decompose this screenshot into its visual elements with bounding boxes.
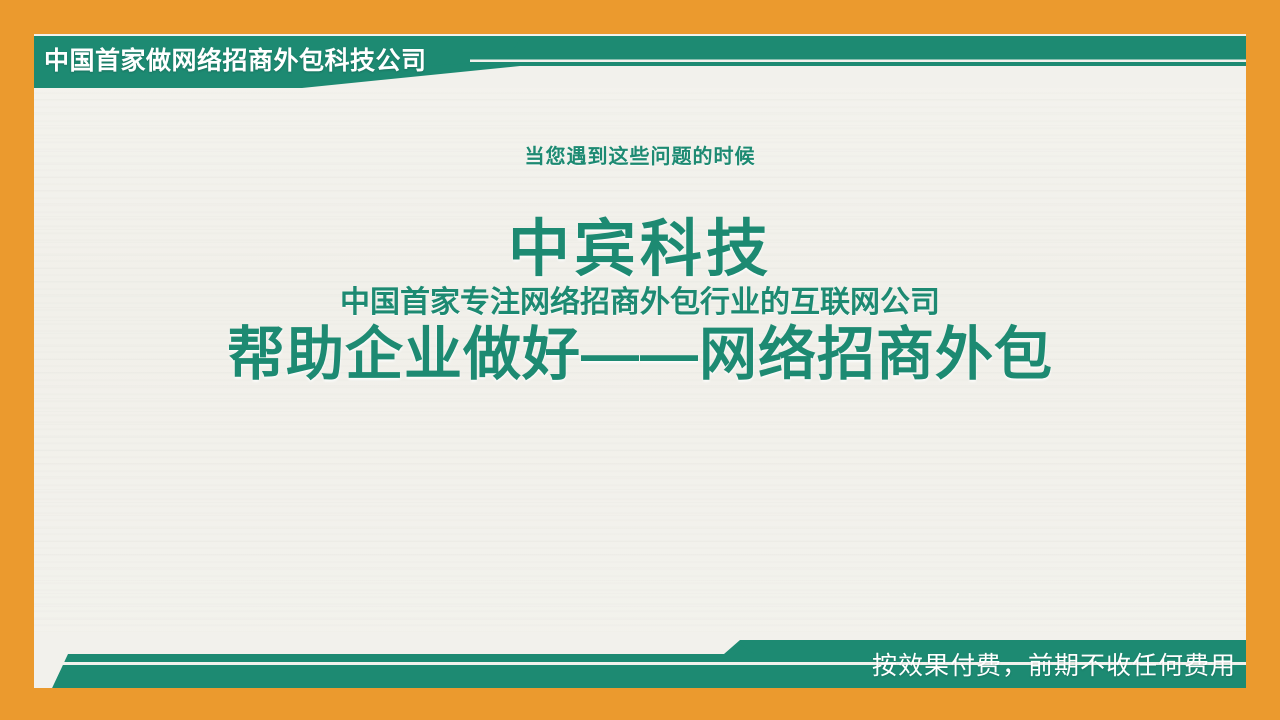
headline-text: 帮助企业做好——网络招商外包 [34,323,1246,387]
eyebrow-text: 当您遇到这些问题的时候 [34,140,1246,169]
tagline-text: 中国首家专注网络招商外包行业的互联网公司 [34,286,1246,321]
slide-content: 当您遇到这些问题的时候 中宾科技 中国首家专注网络招商外包行业的互联网公司 帮助… [34,140,1246,386]
header-title: 中国首家做网络招商外包科技公司 [44,42,427,80]
presentation-slide: 中国首家做网络招商外包科技公司 当您遇到这些问题的时候 中宾科技 中国首家专注网… [0,0,1280,720]
footer-text: 按效果付费，前期不收任何费用 [872,649,1236,683]
brand-name: 中宾科技 [34,217,1246,282]
